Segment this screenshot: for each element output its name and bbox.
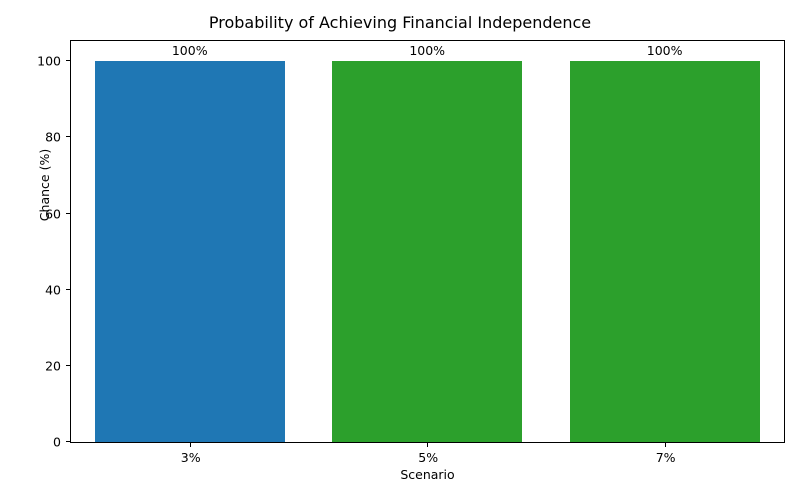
y-axis-tick-label: 40 (45, 283, 61, 296)
plot-area: 100%3%100%5%100%7%020406080100 (71, 41, 784, 442)
bar[interactable] (332, 61, 522, 442)
y-axis-tick: 100 (66, 60, 71, 61)
chart-figure: Probability of Achieving Financial Indep… (0, 0, 800, 500)
y-axis-tick-label: 20 (45, 360, 61, 373)
chart-title: Probability of Achieving Financial Indep… (0, 14, 800, 32)
y-axis-label: Chance (%) (38, 120, 52, 250)
y-axis-tick-label: 0 (53, 436, 61, 449)
plot-axes: 100%3%100%5%100%7%020406080100 (70, 40, 785, 443)
y-axis-tick: 20 (66, 365, 71, 366)
y-axis-tick: 60 (66, 213, 71, 214)
bar[interactable] (570, 61, 760, 442)
bar[interactable] (95, 61, 285, 442)
x-axis-tick-label: 5% (418, 451, 438, 465)
x-axis-tick: 5% (427, 442, 428, 447)
x-axis-label: Scenario (70, 468, 785, 482)
x-axis-tick-label: 3% (181, 451, 201, 465)
y-axis-tick: 80 (66, 136, 71, 137)
y-axis-tick: 40 (66, 289, 71, 290)
y-axis-tick-label: 100 (37, 55, 61, 68)
bar-value-label: 100% (332, 44, 522, 58)
bar-value-label: 100% (95, 44, 285, 58)
x-axis-tick: 3% (190, 442, 191, 447)
y-axis-tick: 0 (66, 441, 71, 442)
x-axis-tick-label: 7% (656, 451, 676, 465)
x-axis-tick: 7% (665, 442, 666, 447)
bar-value-label: 100% (570, 44, 760, 58)
